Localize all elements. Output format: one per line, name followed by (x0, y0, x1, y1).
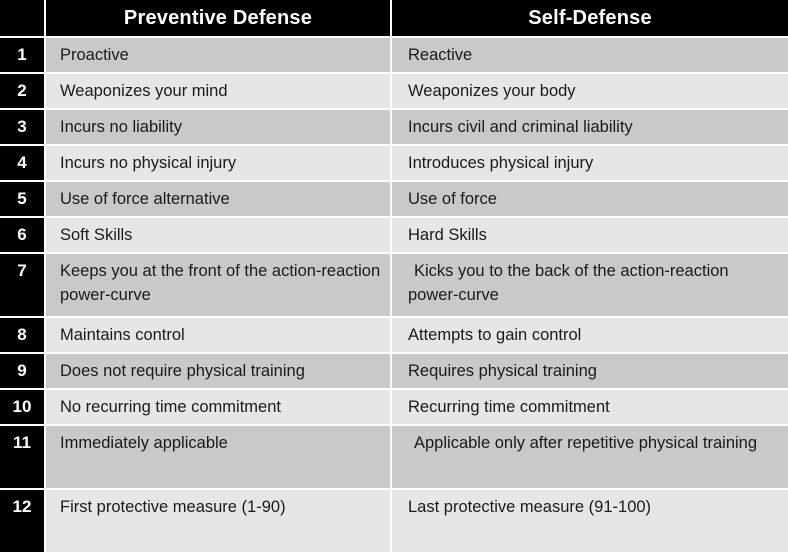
row-number-cell: 6 (0, 218, 46, 252)
cell-self-defense: Applicable only after repetitive physica… (390, 426, 788, 488)
cell-preventive-defense: Weaponizes your mind (46, 74, 390, 108)
header-cell-self-defense: Self-Defense (390, 0, 788, 36)
table-row: 11Immediately applicableApplicable only … (0, 424, 788, 488)
table-row: 5Use of force alternativeUse of force (0, 180, 788, 216)
header-cell-preventive-defense: Preventive Defense (46, 0, 390, 36)
cell-preventive-defense: Immediately applicable (46, 426, 390, 488)
cell-preventive-defense: Incurs no physical injury (46, 146, 390, 180)
cell-self-defense: Incurs civil and criminal liability (390, 110, 788, 144)
cell-self-defense: Introduces physical injury (390, 146, 788, 180)
table-header-row: Preventive Defense Self-Defense (0, 0, 788, 36)
table-row: 3Incurs no liabilityIncurs civil and cri… (0, 108, 788, 144)
row-number-cell: 5 (0, 182, 46, 216)
row-number-cell: 7 (0, 254, 46, 316)
cell-self-defense: Reactive (390, 38, 788, 72)
cell-self-defense: Last protective measure (91-100) (390, 490, 788, 552)
cell-self-defense: Attempts to gain control (390, 318, 788, 352)
row-number-cell: 3 (0, 110, 46, 144)
cell-self-defense: Weaponizes your body (390, 74, 788, 108)
table-row: 10No recurring time commitmentRecurring … (0, 388, 788, 424)
cell-preventive-defense: Use of force alternative (46, 182, 390, 216)
table-row: 6Soft SkillsHard Skills (0, 216, 788, 252)
row-number-cell: 10 (0, 390, 46, 424)
cell-preventive-defense: Maintains control (46, 318, 390, 352)
table-row: 2Weaponizes your mindWeaponizes your bod… (0, 72, 788, 108)
cell-preventive-defense: Does not require physical training (46, 354, 390, 388)
cell-preventive-defense: Incurs no liability (46, 110, 390, 144)
row-number-cell: 9 (0, 354, 46, 388)
table-row: 7Keeps you at the front of the action-re… (0, 252, 788, 316)
cell-self-defense: Requires physical training (390, 354, 788, 388)
table-row: 1ProactiveReactive (0, 36, 788, 72)
cell-self-defense: Recurring time commitment (390, 390, 788, 424)
row-number-cell: 1 (0, 38, 46, 72)
table-row: 8Maintains controlAttempts to gain contr… (0, 316, 788, 352)
table-row: 4Incurs no physical injuryIntroduces phy… (0, 144, 788, 180)
header-cell-number (0, 0, 46, 36)
row-number-cell: 12 (0, 490, 46, 552)
row-number-cell: 4 (0, 146, 46, 180)
comparison-table: Preventive Defense Self-Defense 1Proacti… (0, 0, 788, 552)
cell-preventive-defense: No recurring time commitment (46, 390, 390, 424)
table-row: 12First protective measure (1-90)Last pr… (0, 488, 788, 552)
cell-self-defense: Kicks you to the back of the action-reac… (390, 254, 788, 316)
row-number-cell: 11 (0, 426, 46, 488)
table-body: 1ProactiveReactive2Weaponizes your mindW… (0, 36, 788, 552)
row-number-cell: 8 (0, 318, 46, 352)
cell-preventive-defense: Soft Skills (46, 218, 390, 252)
row-number-cell: 2 (0, 74, 46, 108)
cell-preventive-defense: First protective measure (1-90) (46, 490, 390, 552)
table-row: 9Does not require physical trainingRequi… (0, 352, 788, 388)
cell-self-defense: Use of force (390, 182, 788, 216)
cell-self-defense: Hard Skills (390, 218, 788, 252)
cell-preventive-defense: Proactive (46, 38, 390, 72)
cell-preventive-defense: Keeps you at the front of the action-rea… (46, 254, 390, 316)
